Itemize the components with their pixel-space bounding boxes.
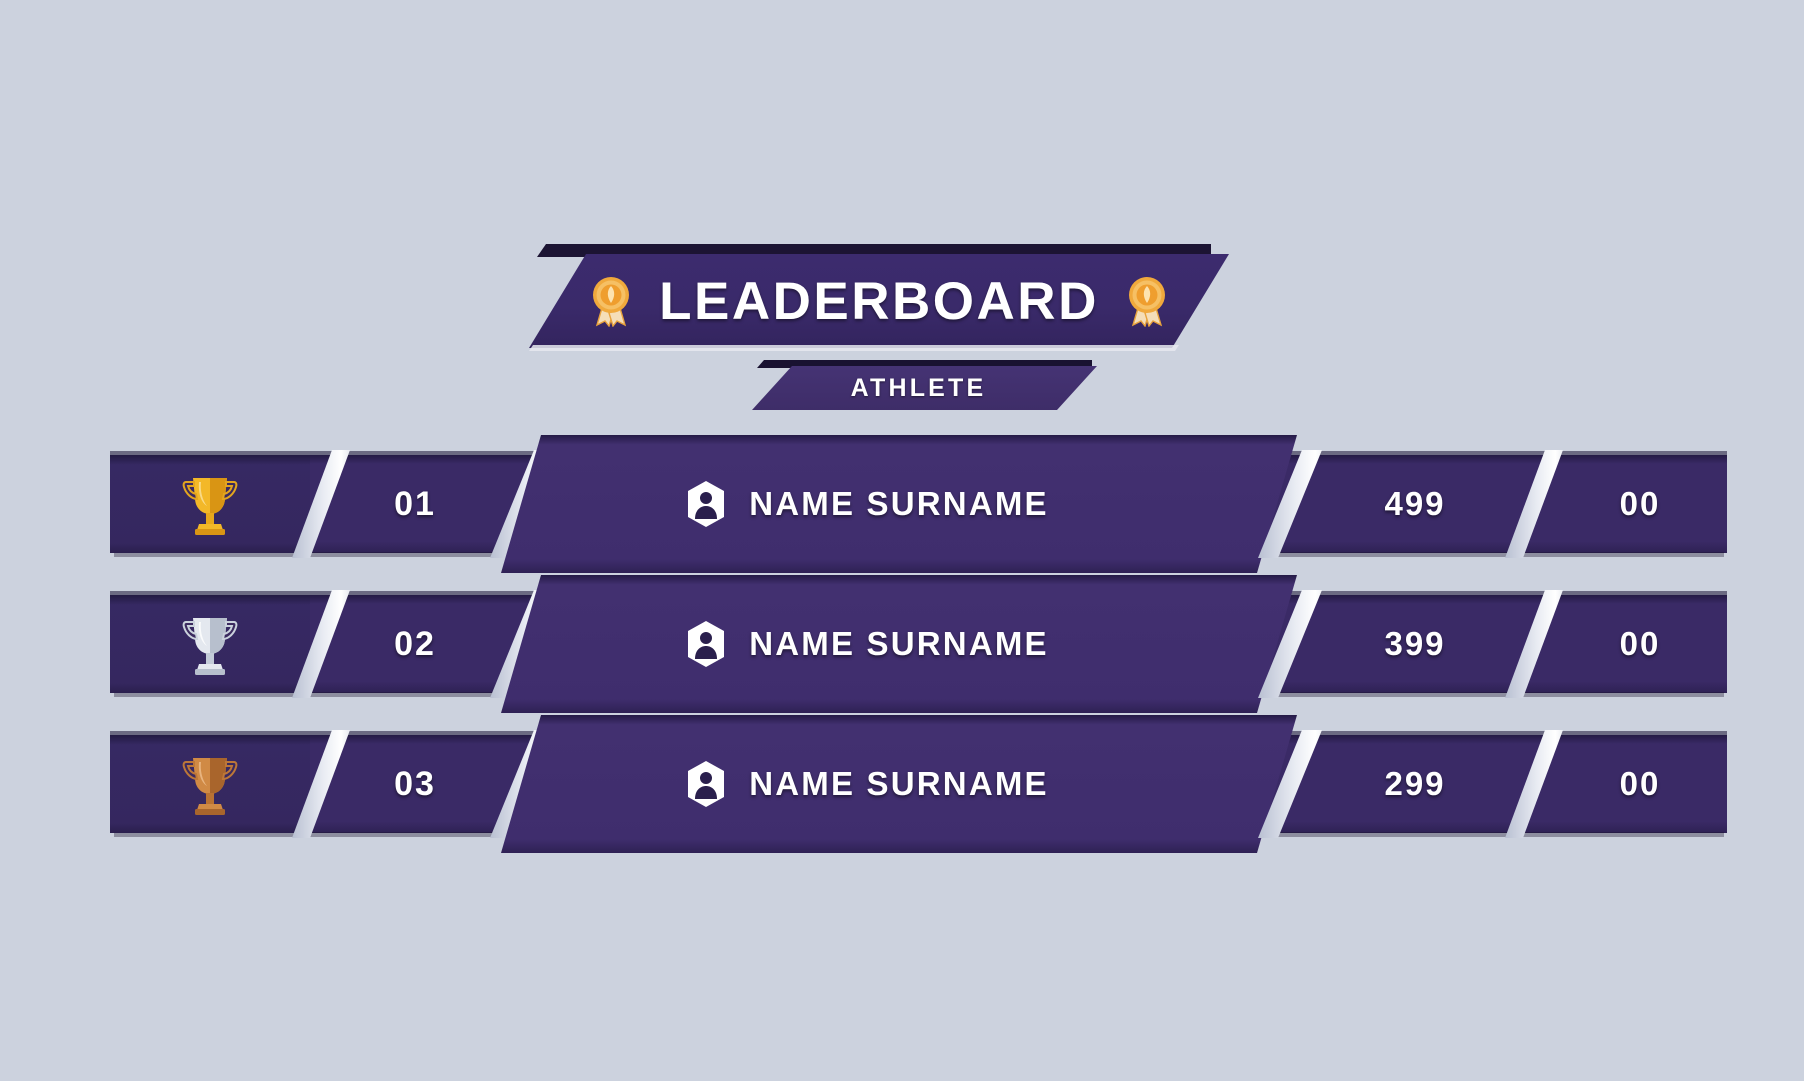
trophy-silver-icon: [181, 612, 239, 676]
medal-rosette-icon: [589, 275, 633, 327]
subtitle-banner: ATHLETE: [0, 360, 1804, 412]
user-avatar-icon: [685, 480, 727, 528]
rank-value: 01: [330, 455, 500, 553]
trophy-gold-icon: [181, 472, 239, 536]
score-value: 399: [1320, 595, 1510, 693]
name-panel: NAME SURNAME: [437, 435, 1297, 573]
player-name: NAME SURNAME: [749, 765, 1049, 803]
title-banner-body: LEADERBOARD: [529, 254, 1229, 348]
rank-value: 02: [330, 595, 500, 693]
secondary-score-value: 00: [1555, 595, 1725, 693]
score-value: 299: [1320, 735, 1510, 833]
rank-value: 03: [330, 735, 500, 833]
subtitle-banner-body: ATHLETE: [752, 366, 1097, 410]
trophy-cell: [110, 735, 310, 833]
name-panel: NAME SURNAME: [437, 575, 1297, 713]
page-title: LEADERBOARD: [659, 271, 1099, 332]
trophy-cell: [110, 595, 310, 693]
user-avatar-icon: [685, 760, 727, 808]
leaderboard-stage: LEADERBOARD ATHLETE: [0, 0, 1804, 1081]
leaderboard-row[interactable]: 03 NAME SURNAME 299 00: [0, 710, 1804, 860]
medal-rosette-icon: [1125, 275, 1169, 327]
user-avatar-icon: [685, 620, 727, 668]
name-panel: NAME SURNAME: [437, 715, 1297, 853]
trophy-bronze-icon: [181, 752, 239, 816]
title-banner: LEADERBOARD: [0, 244, 1804, 354]
score-value: 499: [1320, 455, 1510, 553]
player-name: NAME SURNAME: [749, 625, 1049, 663]
leaderboard-row[interactable]: 02 NAME SURNAME 399 00: [0, 570, 1804, 720]
title-banner-underline: [529, 345, 1179, 351]
leaderboard-row[interactable]: 01 NAME SURNAME 499 00: [0, 430, 1804, 580]
trophy-cell: [110, 455, 310, 553]
secondary-score-value: 00: [1555, 735, 1725, 833]
subtitle-label: ATHLETE: [851, 374, 987, 403]
secondary-score-value: 00: [1555, 455, 1725, 553]
player-name: NAME SURNAME: [749, 485, 1049, 523]
